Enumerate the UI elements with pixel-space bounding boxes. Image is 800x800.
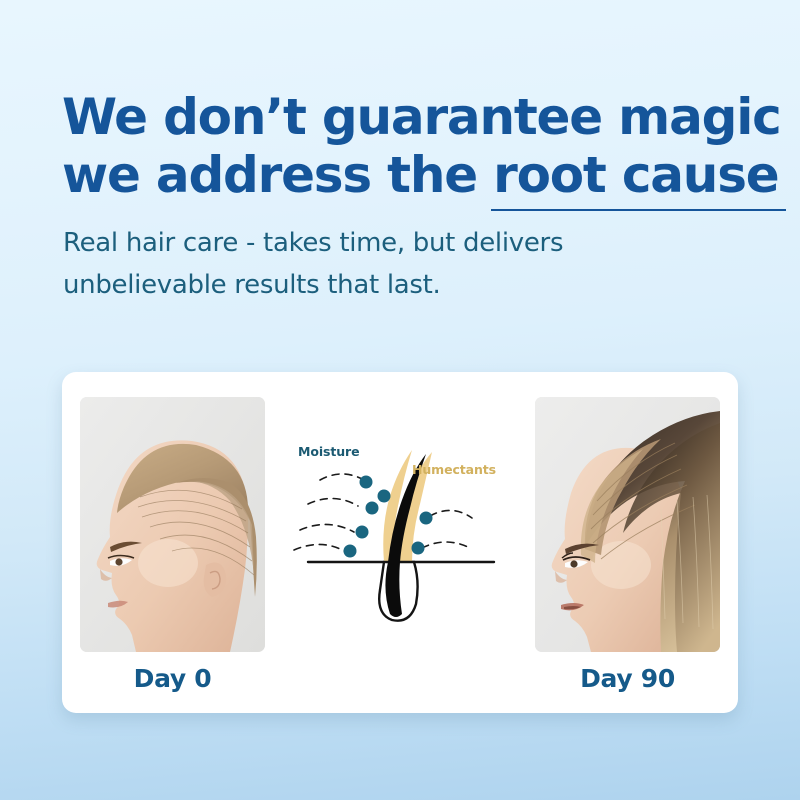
woman-profile-fuller-hair-image <box>535 397 720 652</box>
subtitle-line-2: unbelievable results that last. <box>63 264 683 306</box>
before-photo <box>80 397 265 652</box>
woman-profile-thinning-hair-image <box>80 397 265 652</box>
headline-line-1: We don’t guarantee magic <box>62 88 781 146</box>
hair-follicle-diagram: Moisture Humectants <box>280 438 522 628</box>
headline-emphasis-root-cause: root cause <box>493 146 778 204</box>
after-label: Day 90 <box>535 664 720 693</box>
page-title: We don’t guarantee magic we address the … <box>62 88 762 204</box>
after-photo <box>535 397 720 652</box>
headline-line-2: we address the root cause <box>62 146 762 204</box>
before-label: Day 0 <box>80 664 265 693</box>
headline-line-2-prefix: we address the <box>62 146 493 204</box>
humectants-label: Humectants <box>412 462 496 477</box>
headline-block: We don’t guarantee magic we address the … <box>62 88 762 204</box>
moisture-label: Moisture <box>298 444 359 459</box>
subtitle: Real hair care - takes time, but deliver… <box>63 222 683 306</box>
subtitle-line-1: Real hair care - takes time, but deliver… <box>63 222 683 264</box>
before-after-card: Day 0 Moisture Humectants <box>62 372 738 713</box>
